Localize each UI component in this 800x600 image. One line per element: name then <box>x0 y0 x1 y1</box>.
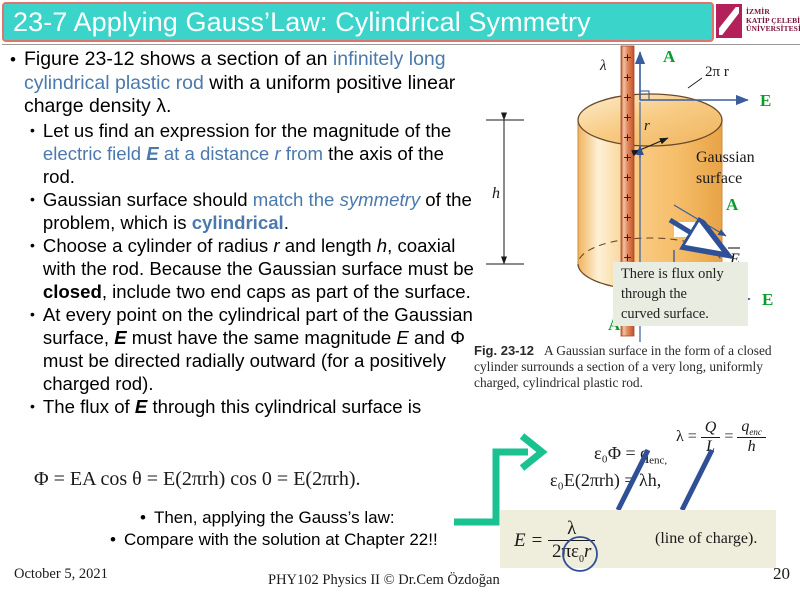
field-label-bottom: E <box>762 290 773 309</box>
then-apply-gauss-bullet: • Then, applying the Gauss’s law: <box>140 508 480 528</box>
lambda-definition-equation: λ = Q L = qenc h <box>676 418 766 456</box>
logo-text: İZMİR KATİP ÇELEBİ ÜNİVERSİTESİ <box>746 8 800 34</box>
bullet-segment: E <box>146 143 158 164</box>
bullet-text: Gaussian surface should match the symmet… <box>43 188 474 234</box>
gauss-eq2-h2: h <box>648 470 657 490</box>
lambda-num-qenc: qenc <box>737 418 766 437</box>
bullet-segment: Figure 23-12 shows a section of an <box>24 48 333 70</box>
gauss-eq2-h1: h <box>605 470 614 490</box>
svg-text:+: + <box>623 111 632 124</box>
figure-number: Fig. 23-12 <box>474 343 534 358</box>
footer-course-credit: PHY102 Physics II © Dr.Cem Özdoğan <box>268 572 500 589</box>
bullet-item: •Let us find an expression for the magni… <box>30 119 474 188</box>
bullet-item: •At every point on the cylindrical part … <box>30 303 474 395</box>
bullet-dot: • <box>30 395 35 418</box>
bullet-segment: The flux of <box>43 396 135 417</box>
bullet-text: The flux of E through this cylindrical s… <box>43 395 474 418</box>
svg-text:+: + <box>623 71 632 84</box>
bullet-text: Choose a cylinder of radius r and length… <box>43 234 474 303</box>
bullet-list: •Figure 23-12 shows a section of an infi… <box>4 48 474 418</box>
svg-text:+: + <box>623 171 632 184</box>
bullet-text: Let us find an expression for the magnit… <box>43 119 474 188</box>
final-numerator: λ <box>548 518 595 540</box>
bullet-segment: must have the same magnitude <box>127 327 397 348</box>
bullet-segment: , include two end caps as part of the su… <box>102 281 471 302</box>
gauss-eq2-end: , <box>657 470 662 490</box>
bullet-text: Figure 23-12 shows a section of an infin… <box>24 48 474 119</box>
callout-line-2: through the <box>621 284 748 304</box>
gaussian-surface-label-line1: Gaussian <box>696 149 755 166</box>
lambda-equals-2: = <box>724 428 733 445</box>
bullet-segment: E <box>396 327 408 348</box>
bullet-text: At every point on the cylindrical part o… <box>43 303 474 395</box>
bullet-segment: . <box>284 212 289 233</box>
then-apply-gauss-label: Then, applying the Gauss’s law: <box>154 508 395 528</box>
bullet-segment: Gaussian surface should <box>43 189 253 210</box>
lambda-num-Q: Q <box>701 419 721 437</box>
lambda-den-L: L <box>701 437 721 456</box>
bullet-segment: symmetry <box>340 189 421 210</box>
gauss-eq1-sub: enc, <box>649 455 667 467</box>
bullet-segment: Let us find an expression for the magnit… <box>43 120 451 141</box>
bullet-dot: • <box>30 234 35 303</box>
bullet-dot: • <box>30 188 35 234</box>
line-of-charge-note: (line of charge). <box>655 530 757 548</box>
gauss-law-equation-1: ε₀Φ = qenc, <box>594 443 667 467</box>
gauss-eq1-main: ε₀Φ = q <box>594 443 649 463</box>
flux-callout-box: There is flux only through the curved su… <box>613 262 748 326</box>
bullet-dot: • <box>10 48 16 119</box>
compare-chapter22-bullet: • Compare with the solution at Chapter 2… <box>110 530 480 550</box>
final-field-equation: E = λ 2πε0r <box>514 518 595 565</box>
svg-text:+: + <box>623 131 632 144</box>
bullet-segment: from <box>281 143 323 164</box>
logo-mark-icon <box>716 4 742 38</box>
bullet-segment: at a distance <box>159 143 275 164</box>
footer-date: October 5, 2021 <box>14 566 108 583</box>
svg-text:+: + <box>623 91 632 104</box>
callout-line-3: curved surface. <box>621 304 748 324</box>
bullet-segment: through this cylindrical surface is <box>147 396 421 417</box>
footer-page-number: 20 <box>773 564 790 584</box>
bullet-dot: • <box>30 119 35 188</box>
flux-equation: Φ = EA cos θ = E(2πrh) cos 0 = E(2πrh). <box>34 468 464 491</box>
gauss-eq2-pre: ε₀E(2πr <box>550 470 605 490</box>
lambda-den-h: h <box>737 437 766 456</box>
bullet-segment: closed <box>43 281 102 302</box>
bullet-dot: • <box>30 303 35 395</box>
bullet-segment: Choose a cylinder of radius <box>43 235 273 256</box>
gauss-law-equation-2: ε₀E(2πrh) = λh, <box>550 470 661 491</box>
bullet-segment: cylindrical <box>192 212 284 233</box>
final-denominator: 2πε0r <box>548 540 595 565</box>
bullet-dot: • <box>110 530 116 550</box>
university-logo: İZMİR KATİP ÇELEBİ ÜNİVERSİTESİ <box>714 0 800 42</box>
area-label-top: A <box>663 47 676 66</box>
area-label-side: A <box>726 195 739 214</box>
bullet-segment: match the <box>253 189 340 210</box>
compare-chapter22-label: Compare with the solution at Chapter 22!… <box>124 530 438 550</box>
gauss-eq2-mid: ) = λ <box>614 470 648 490</box>
bullet-dot: • <box>140 508 146 528</box>
flux-equation-text: Φ = EA cos θ = E(2πrh) cos 0 = E(2πrh). <box>34 468 361 490</box>
bullet-segment: h <box>377 235 387 256</box>
bullet-item: •Figure 23-12 shows a section of an infi… <box>10 48 474 119</box>
bullet-segment: electric field <box>43 143 146 164</box>
svg-text:+: + <box>623 51 632 64</box>
circumference-leader-line <box>688 78 702 88</box>
circumference-label: 2π r <box>705 64 729 80</box>
svg-text:+: + <box>623 191 632 204</box>
logo-line-3: ÜNİVERSİTESİ <box>746 25 800 34</box>
bullet-segment: E <box>114 327 126 348</box>
callout-line-1: There is flux only <box>621 264 748 284</box>
height-label: h <box>492 185 500 202</box>
page-title: 23-7 Applying Gauss’Law: Cylindrical Sym… <box>4 9 591 36</box>
lambda-lhs: λ = <box>676 428 697 445</box>
lambda-label: λ <box>599 58 607 74</box>
svg-text:+: + <box>623 151 632 164</box>
bullet-segment: and length <box>280 235 377 256</box>
bullet-item: •Gaussian surface should match the symme… <box>30 188 474 234</box>
field-label-top: E <box>760 91 771 110</box>
slide-title-bar: 23-7 Applying Gauss’Law: Cylindrical Sym… <box>2 2 714 42</box>
lambda-fraction-qench: qenc h <box>737 418 766 456</box>
figure-caption: Fig. 23-12 A Gaussian surface in the for… <box>474 343 774 392</box>
svg-text:+: + <box>623 211 632 224</box>
radius-label: r <box>644 118 650 134</box>
bullet-item: •The flux of E through this cylindrical … <box>30 395 474 418</box>
final-fraction: λ 2πε0r <box>548 518 595 565</box>
lambda-fraction-QL: Q L <box>701 419 721 456</box>
strike-h-2 <box>682 450 712 510</box>
final-lhs: E = <box>514 530 543 551</box>
svg-text:+: + <box>623 231 632 244</box>
bullet-segment: E <box>135 396 147 417</box>
cylinder-top-cap <box>578 94 722 146</box>
bullet-item: •Choose a cylinder of radius r and lengt… <box>30 234 474 303</box>
gaussian-surface-label-line2: surface <box>696 170 742 187</box>
